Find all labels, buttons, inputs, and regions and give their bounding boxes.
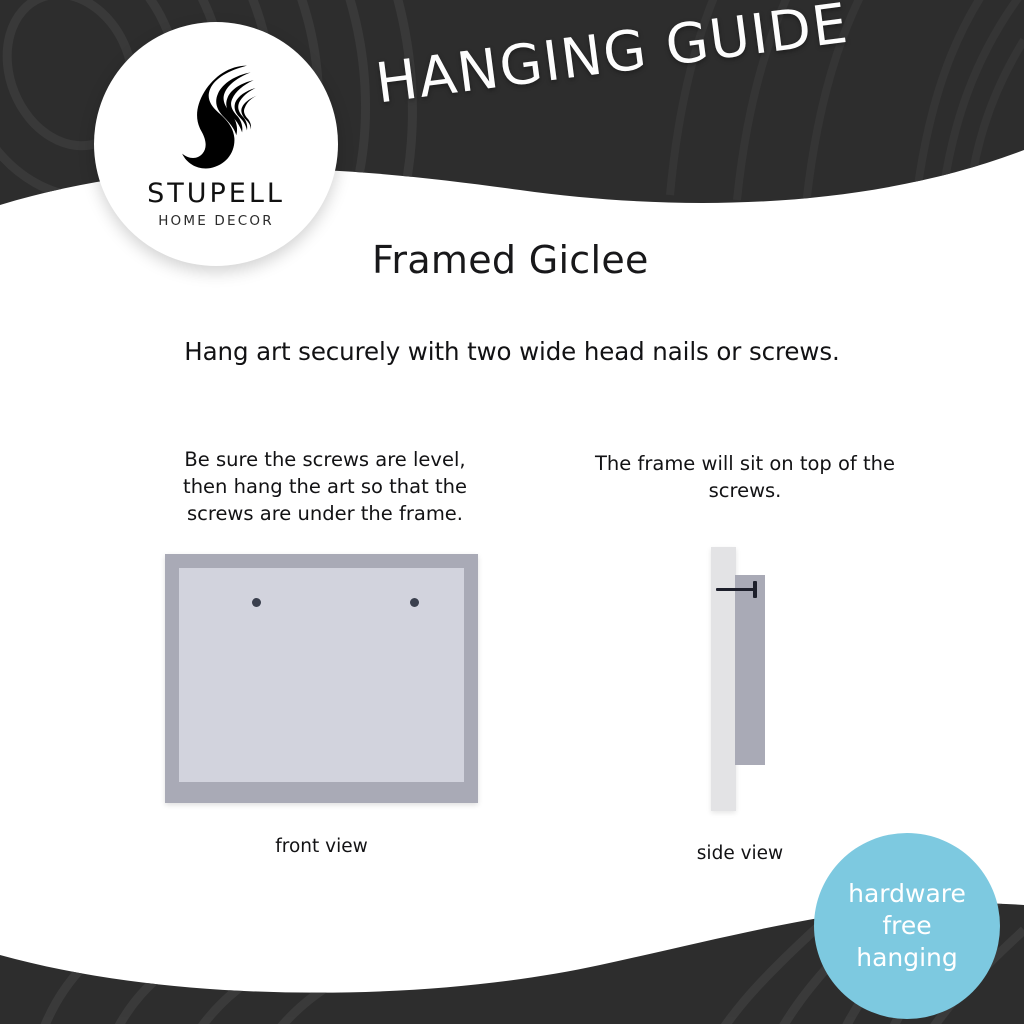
badge-line-1: hardware [848, 878, 966, 910]
front-view-frame [165, 554, 478, 803]
product-name: Framed Giclee [372, 238, 649, 282]
brand-logo-badge: STUPELL HOME DECOR [94, 22, 338, 266]
lead-instruction: Hang art securely with two wide head nai… [0, 337, 1024, 366]
hardware-free-hanging-badge: hardware free hanging [814, 833, 1000, 1019]
badge-line-2: free [882, 910, 931, 942]
screw-dot-left-icon [252, 598, 261, 607]
nail-shaft-icon [716, 588, 756, 591]
screw-dot-right-icon [410, 598, 419, 607]
side-view-frame [735, 575, 765, 765]
hanging-guide-page: STUPELL HOME DECOR HANGING GUIDE Framed … [0, 0, 1024, 1024]
nail-head-icon [753, 581, 757, 598]
front-view-label: front view [165, 836, 478, 857]
side-view-label: side view [660, 843, 820, 864]
page-title: HANGING GUIDE [372, 0, 896, 115]
side-view-caption: The frame will sit on top of the screws. [590, 450, 900, 504]
brand-wordmark: STUPELL [147, 178, 285, 209]
stupell-swirl-logo-icon [158, 56, 274, 172]
brand-subtitle: HOME DECOR [158, 213, 274, 229]
badge-line-3: hanging [856, 942, 958, 974]
front-view-mat [179, 568, 464, 782]
side-view-wall [711, 547, 736, 811]
front-view-caption: Be sure the screws are level, then hang … [160, 446, 490, 527]
